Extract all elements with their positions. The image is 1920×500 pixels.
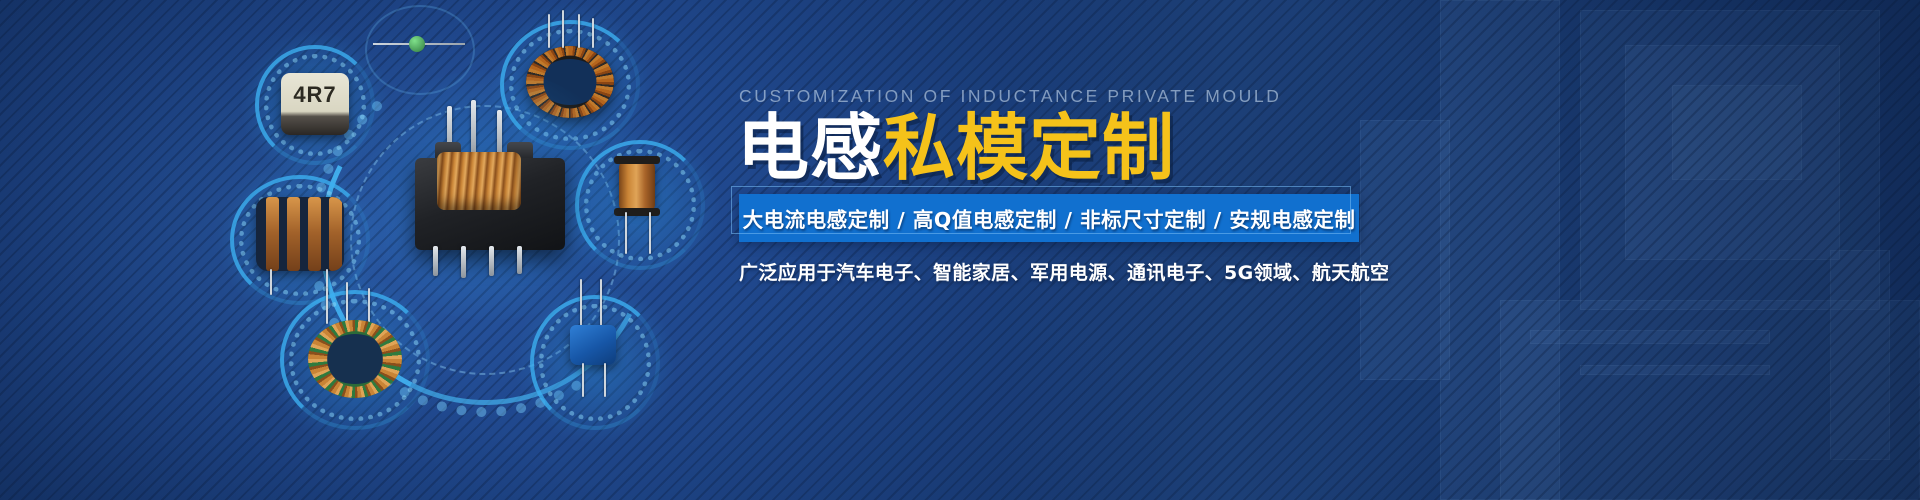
smd-marking-label: 4R7 [281, 82, 349, 108]
green-toroid-core [308, 320, 402, 398]
product-green-toroid [280, 290, 430, 430]
blue-bobbin-body [570, 325, 616, 365]
headline-part-white: 电感 [737, 106, 883, 190]
promo-banner: 4R7 [0, 0, 1920, 500]
banner-headline: 电感私模定制 [737, 112, 1175, 184]
transformer-copper-coil [437, 152, 521, 210]
banner-eyebrow-text: CUSTOMIZATION OF INDUCTANCE PRIVATE MOUL… [739, 86, 1282, 107]
services-list-text: 大电流电感定制 / 高Q值电感定制 / 非标尺寸定制 / 安规电感定制 [743, 203, 1356, 233]
smd-chip-body: 4R7 [281, 73, 349, 135]
choke-core-body [256, 197, 344, 271]
wire-bead [409, 36, 425, 52]
product-showcase-cluster: 4R7 [200, 0, 760, 500]
banner-description-text: 广泛应用于汽车电子、智能家居、军用电源、通讯电子、5G领域、航天航空 [739, 258, 1389, 285]
banner-text-content: CUSTOMIZATION OF INDUCTANCE PRIVATE MOUL… [737, 0, 1837, 500]
services-pill-bar[interactable]: 大电流电感定制 / 高Q值电感定制 / 非标尺寸定制 / 安规电感定制 [739, 194, 1359, 242]
headline-part-yellow: 私模定制 [883, 106, 1175, 190]
product-blue-bobbin [530, 295, 660, 430]
product-power-transformer [375, 100, 605, 290]
